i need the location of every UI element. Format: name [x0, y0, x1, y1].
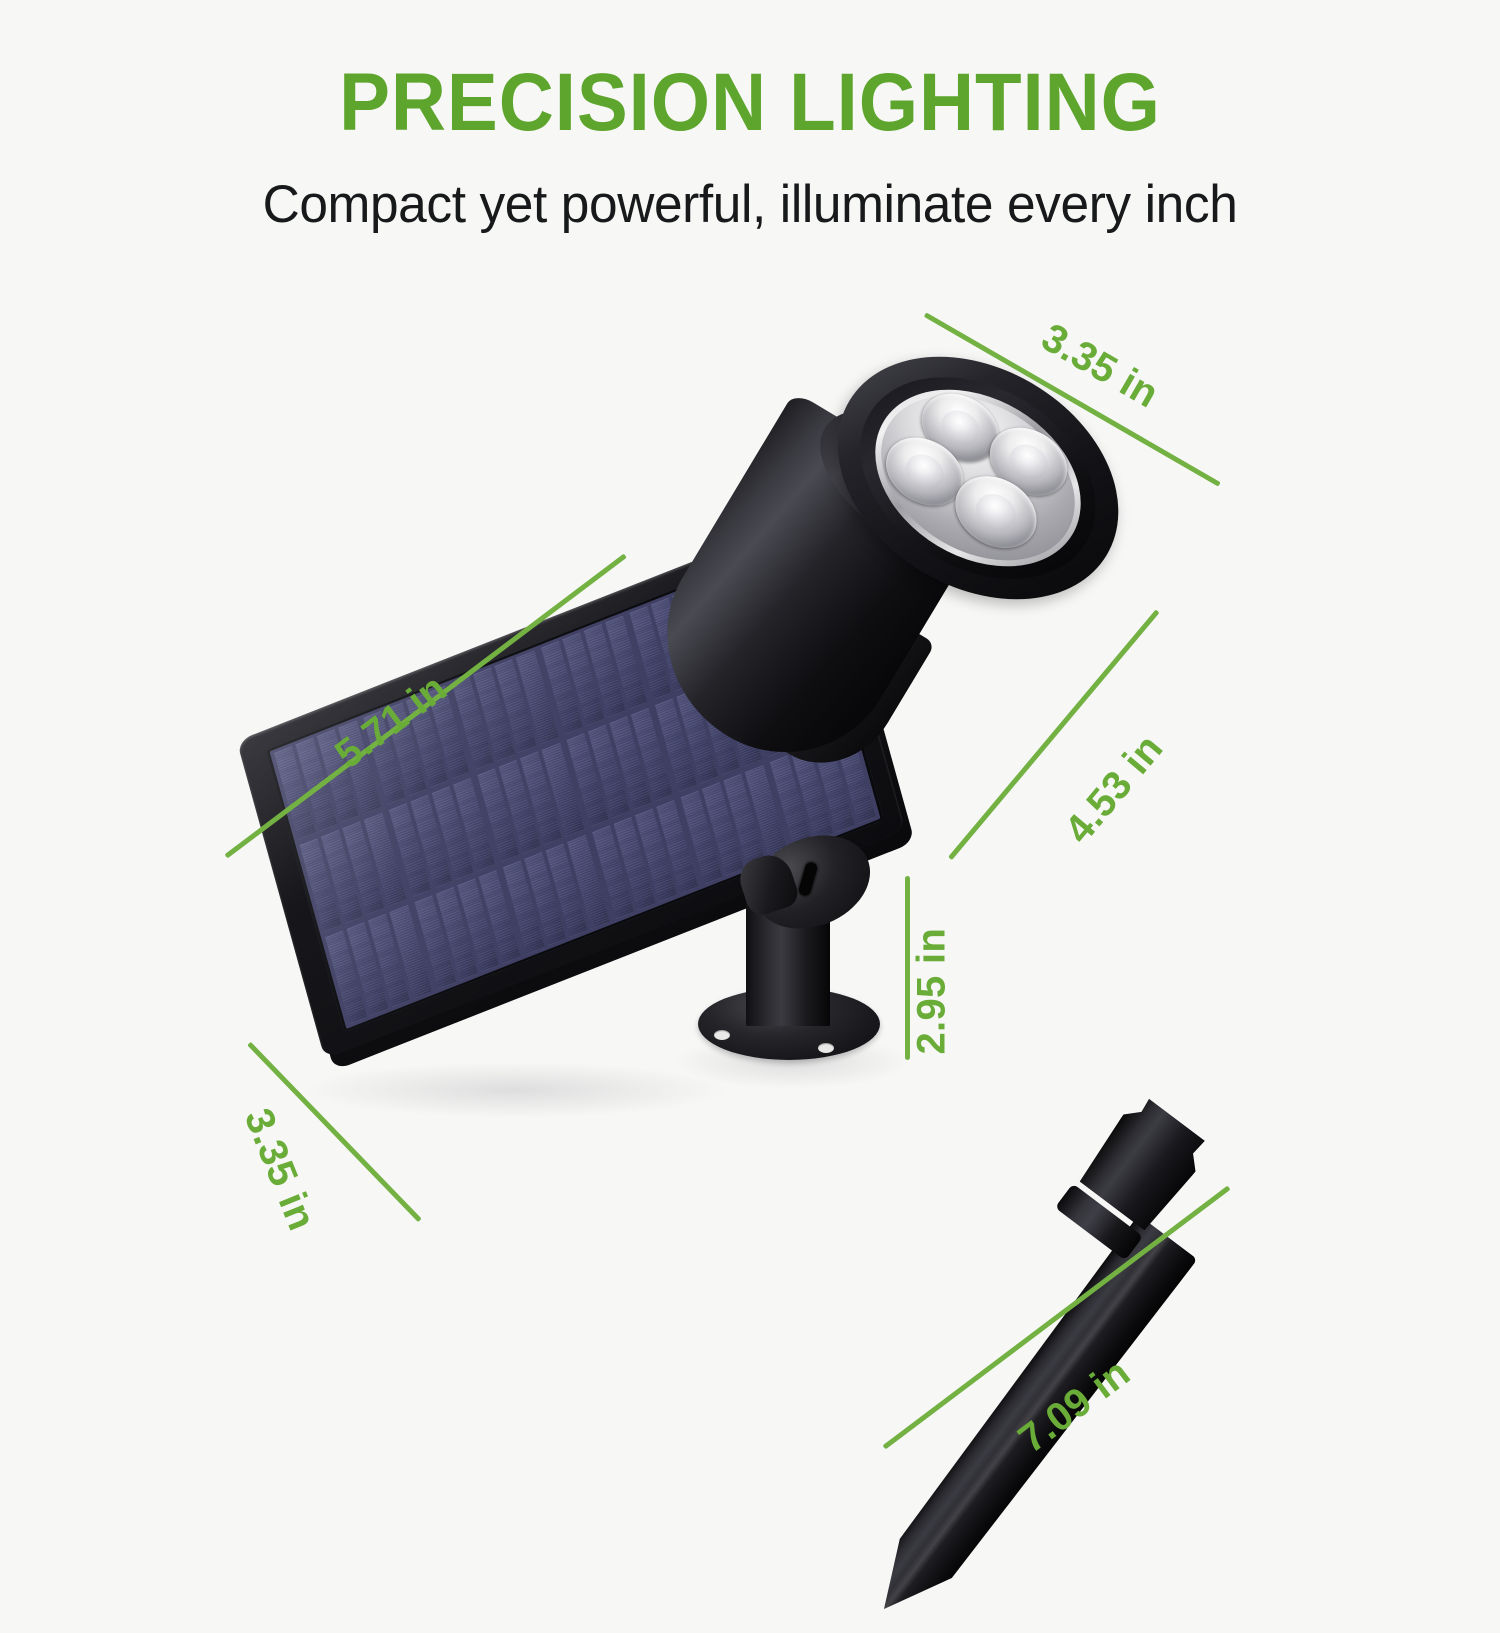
spotlight-head — [760, 355, 1190, 805]
product-diagram-stage: 3.35 in 4.53 in 5.71 in 3.35 in 2.95 in … — [0, 0, 1500, 1500]
dimension-label-mount-height: 2.95 in — [910, 928, 955, 1055]
ground-stake — [660, 1000, 1280, 1480]
dimension-label-panel-width: 3.35 in — [235, 1103, 324, 1237]
